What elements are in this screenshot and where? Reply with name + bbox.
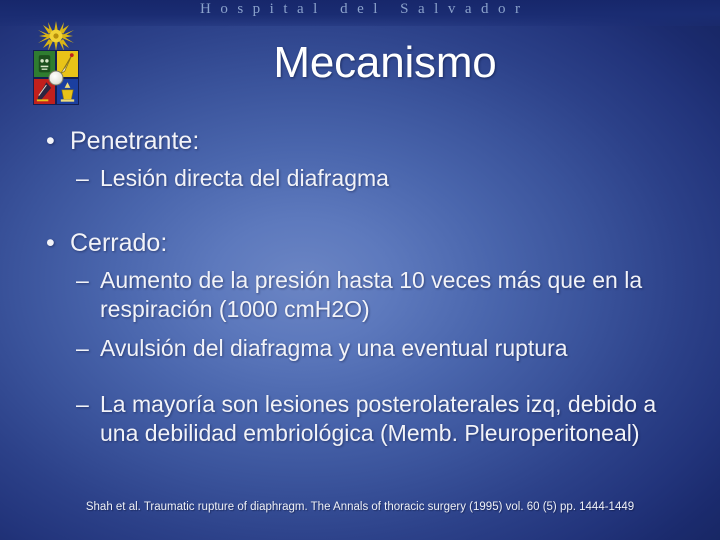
sun-icon — [37, 21, 75, 53]
bullet-text: Aumento de la presión hasta 10 veces más… — [100, 267, 642, 322]
section-spacer — [38, 193, 692, 226]
bullet-level1: • Cerrado: — [38, 226, 692, 260]
hospital-header-title: Hospital del Salvador — [0, 1, 720, 18]
dash-marker: – — [76, 266, 89, 295]
source-citation: Shah et al. Traumatic rupture of diaphra… — [46, 499, 674, 516]
line-spacer — [38, 324, 692, 334]
bullet-level2: – La mayoría son lesiones posterolateral… — [38, 390, 692, 448]
bullet-marker: • — [46, 124, 55, 158]
bullet-text: La mayoría son lesiones posterolaterales… — [100, 391, 656, 446]
bullet-text: Avulsión del diafragma y una eventual ru… — [100, 335, 568, 361]
bullet-marker: • — [46, 226, 55, 260]
presentation-slide: Hospital del Salvador — [0, 0, 720, 540]
shield-quadrants — [33, 50, 79, 105]
bullet-level2: – Aumento de la presión hasta 10 veces m… — [38, 266, 692, 324]
dash-marker: – — [76, 390, 89, 419]
slide-body: • Penetrante: – Lesión directa del diafr… — [38, 124, 692, 448]
bullet-text: Cerrado: — [70, 229, 167, 257]
bullet-text: Lesión directa del diafragma — [100, 165, 389, 191]
universidad-de-chile-shield-logo — [31, 21, 81, 105]
bullet-level1: • Penetrante: — [38, 124, 692, 158]
line-spacer — [38, 363, 692, 390]
bullet-text: Penetrante: — [70, 127, 199, 155]
dash-marker: – — [76, 334, 89, 363]
dash-marker: – — [76, 164, 89, 193]
bullet-level2: – Avulsión del diafragma y una eventual … — [38, 334, 692, 363]
slide-title: Mecanismo — [95, 38, 675, 88]
center-medallion-icon — [49, 70, 64, 85]
bullet-level2: – Lesión directa del diafragma — [38, 164, 692, 193]
